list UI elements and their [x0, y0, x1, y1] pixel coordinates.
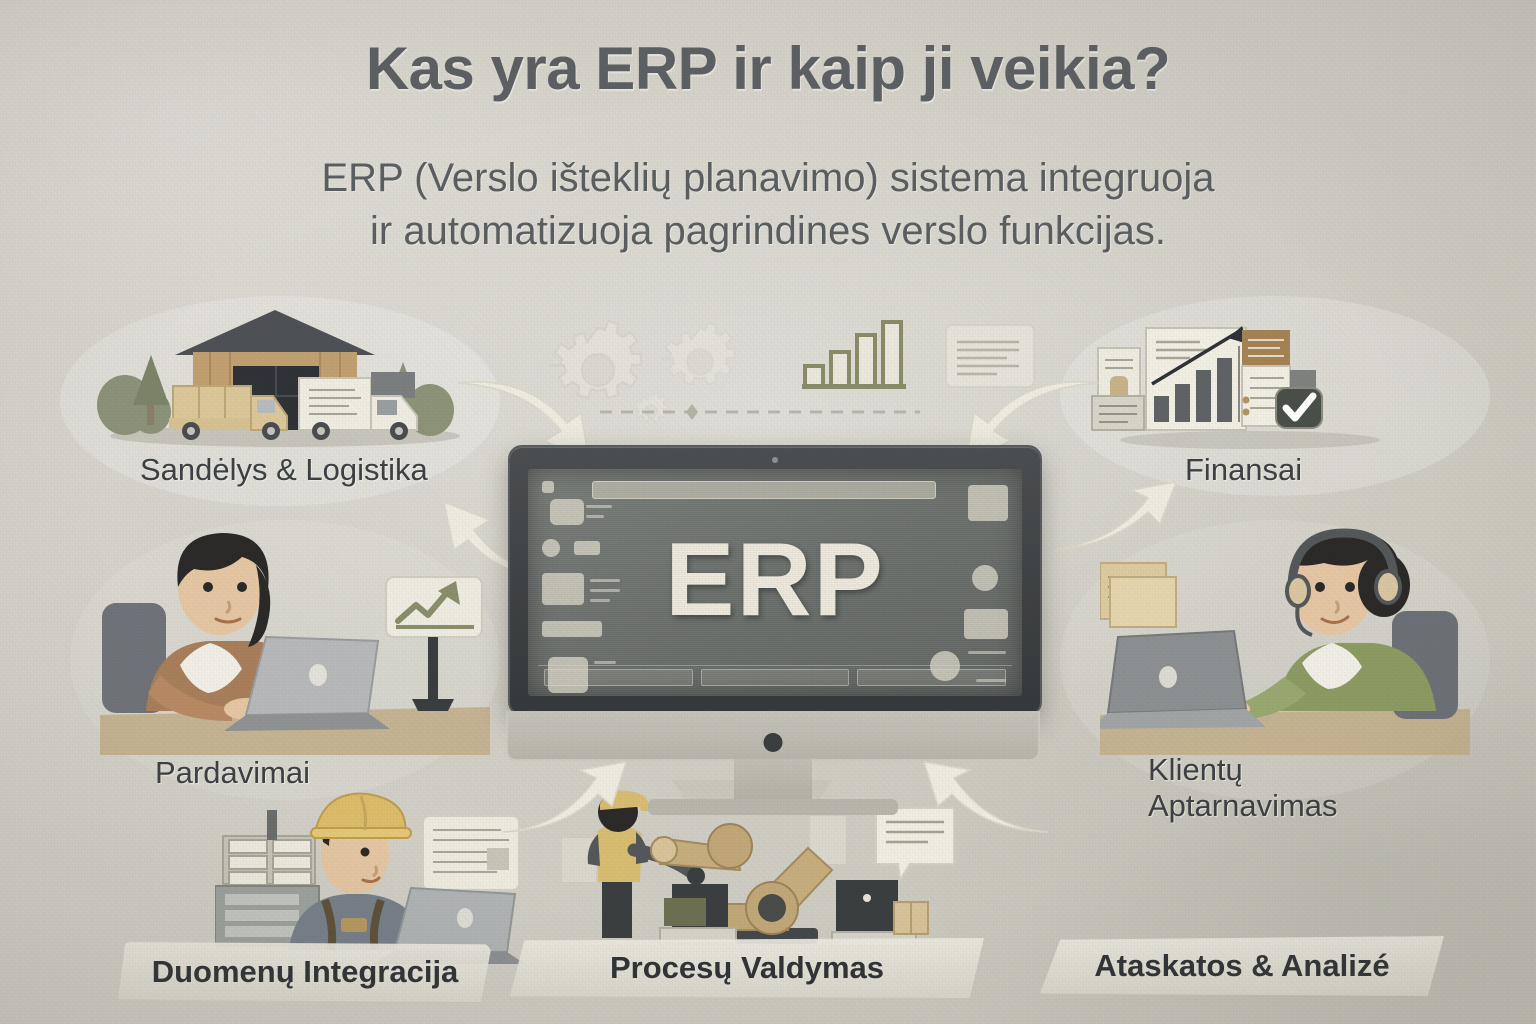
- monitor-base: [648, 799, 898, 815]
- ui-icon-card: [964, 609, 1008, 639]
- chip-process-control[interactable]: Procesų Valdymas: [510, 938, 984, 998]
- ui-icon-share: [972, 565, 998, 591]
- growth-chart-documents-icon: [1090, 300, 1400, 450]
- ui-icon-globe: [548, 657, 588, 693]
- ui-icon-bar: [542, 621, 602, 637]
- ui-icon-gear: [930, 651, 960, 681]
- ui-line: [968, 651, 1006, 654]
- chip-data-integration[interactable]: Duomenų Integracija: [118, 942, 492, 1002]
- ui-icon-folder: [542, 573, 584, 605]
- ui-icon-settings: [542, 539, 560, 557]
- module-label-finance: Finansai: [1185, 452, 1302, 488]
- ui-icon-cloud: [542, 481, 554, 493]
- ui-icon-panel-b: [574, 541, 600, 555]
- search-input[interactable]: [592, 481, 936, 499]
- ui-icon-panel-a: [550, 499, 584, 525]
- module-label-support-line-1: Klientų: [1148, 752, 1398, 788]
- monitor-screen[interactable]: ERP: [528, 469, 1022, 696]
- ui-line: [586, 515, 604, 518]
- gear-icon: [660, 322, 740, 402]
- ui-line: [976, 679, 1006, 682]
- arrow-finance-to-erp: [1050, 480, 1180, 560]
- page-title: Kas yra ERP ir kaip ji veikia?: [0, 34, 1536, 103]
- ui-line: [590, 599, 610, 602]
- erp-screen-word: ERP: [528, 521, 1022, 640]
- subtitle-line-2: ir automatizuoja pagrindines verslo funk…: [143, 205, 1393, 258]
- woman-laptop-icon: [100, 525, 490, 755]
- page-subtitle: ERP (Verslo išteklių planavimo) sistema …: [143, 152, 1393, 258]
- module-label-sales: Pardavimai: [155, 755, 310, 791]
- taskbar-cell[interactable]: [544, 669, 693, 686]
- subtitle-line-1: ERP (Verslo išteklių planavimo) sistema …: [143, 152, 1393, 205]
- ui-icon-calculator: [968, 485, 1008, 521]
- module-label-warehouse: Sandėlys & Logistika: [140, 452, 428, 488]
- webcam-icon: [772, 457, 778, 463]
- bar-chart-icon: [800, 310, 915, 390]
- monitor-power-button[interactable]: [764, 733, 783, 752]
- erp-monitor: ERP: [508, 445, 1038, 775]
- infographic-canvas: Kas yra ERP ir kaip ji veikia? ERP (Vers…: [0, 0, 1536, 1024]
- bg-dotted-connector: [600, 400, 920, 424]
- taskbar-cell[interactable]: [857, 669, 1006, 686]
- monitor-bezel: ERP: [508, 445, 1042, 716]
- ui-line: [594, 661, 616, 664]
- chip-reports-analytics[interactable]: Ataskatos & Analizé: [1040, 936, 1444, 996]
- module-label-support-line-2: Aptarnavimas: [1148, 788, 1398, 824]
- module-label-support: Klientų Aptarnavimas: [1148, 752, 1398, 824]
- taskbar-cell[interactable]: [701, 669, 850, 686]
- ui-line: [586, 505, 612, 508]
- warehouse-trucks-icon: [85, 300, 475, 450]
- ui-line: [590, 579, 620, 582]
- screen-taskbar[interactable]: [538, 665, 1012, 688]
- ui-line: [590, 589, 620, 592]
- worker-hardhat-laptop-icon: [215, 790, 525, 965]
